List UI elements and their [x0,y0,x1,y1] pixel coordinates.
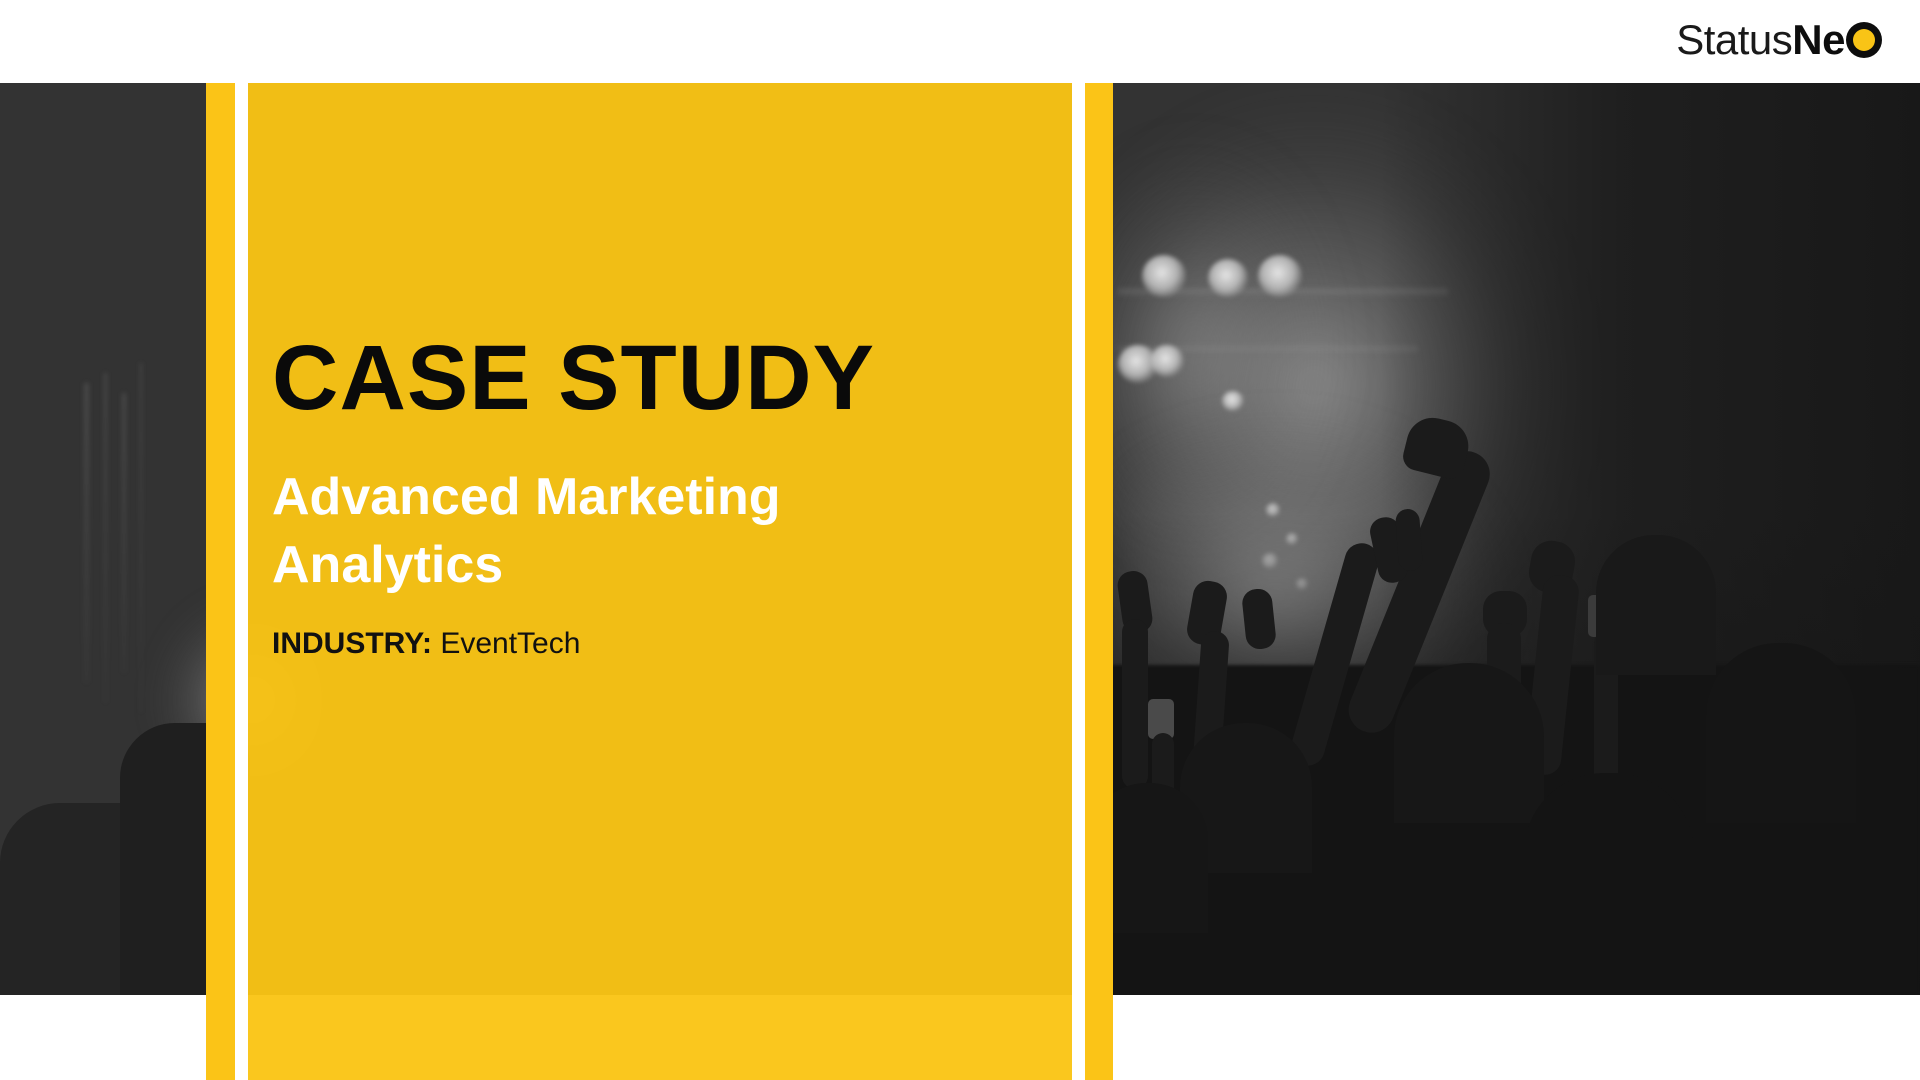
head-silhouette [1706,643,1856,823]
page-title: CASE STUDY [272,330,1052,427]
stage-light [1222,391,1244,411]
logo-dot-icon [1846,22,1882,58]
accent-stripe-right-yellow [1085,0,1113,1080]
slide-subtitle: Advanced Marketing Analytics [272,463,972,600]
statusneo-logo[interactable]: StatusNe [1676,16,1882,64]
accent-stripe-right-white [1072,0,1085,1080]
accent-stripe-left-white [235,0,248,1080]
raised-hand-silhouette [1395,508,1423,572]
head-silhouette [1394,663,1544,823]
stage-light [1258,255,1302,297]
stage-light [1208,259,1248,297]
logo-text-status: Status [1676,19,1792,61]
logo-text-neo: Ne [1792,19,1845,61]
head-silhouette [1596,535,1716,675]
light-streak [84,383,89,683]
industry-value: EventTech [440,627,580,660]
header-band [0,0,1920,83]
raised-arm-silhouette [1122,619,1148,789]
slide-text-block: CASE STUDY Advanced Marketing Analytics … [272,330,1052,662]
stage-light [1142,255,1186,297]
light-streak [104,373,107,703]
stage-light [1150,345,1184,377]
case-study-slide: CASE STUDY Advanced Marketing Analytics … [0,0,1920,1080]
industry-label: INDUSTRY: [272,627,432,660]
accent-stripe-left-yellow [206,0,235,1080]
industry-line: INDUSTRY: EventTech [272,626,1052,662]
head-silhouette [1524,773,1694,963]
